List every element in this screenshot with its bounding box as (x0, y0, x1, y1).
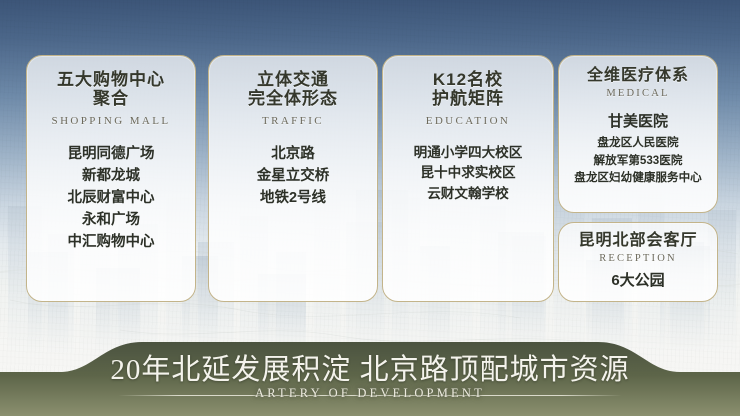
card-title-traffic: 立体交通 完全体形态 (209, 56, 377, 109)
card-item-list-medical: 盘龙区人民医院 解放军第533医院 盘龙区妇幼健康服务中心 (559, 134, 717, 187)
card-item-list-shopping-mall: 昆明同德广场 新都龙城 北辰财富中心 永和广场 中汇购物中心 (27, 143, 195, 253)
list-item: 明通小学四大校区 (383, 143, 553, 164)
banner-headline: 20年北延发展积淀 北京路顶配城市资源 (110, 346, 629, 388)
list-item: 北辰财富中心 (27, 187, 195, 209)
list-item: 昆十中求实校区 (383, 163, 553, 184)
list-item: 盘龙区妇幼健康服务中心 (559, 169, 717, 187)
poster-canvas: 五大购物中心 聚合 SHOPPING MALL 昆明同德广场 新都龙城 北辰财富… (0, 0, 740, 416)
card-subtitle-shopping-mall: SHOPPING MALL (27, 115, 195, 127)
card-subtitle-reception: RECEPTION (559, 253, 717, 264)
banner-subline-wrap: ARTERY OF DEVELOPMENT (0, 386, 740, 401)
list-item: 昆明同德广场 (27, 143, 195, 165)
banner-subline: ARTERY OF DEVELOPMENT (251, 386, 489, 400)
card-medical[interactable]: 全维医疗体系 MEDICAL 甘美医院 盘龙区人民医院 解放军第533医院 盘龙… (558, 55, 718, 213)
card-subtitle-traffic: TRAFFIC (209, 115, 377, 127)
list-item: 永和广场 (27, 209, 195, 231)
banner-text-block: 20年北延发展积淀 北京路顶配城市资源 (0, 336, 740, 416)
list-item: 金星立交桥 (209, 165, 377, 187)
card-traffic[interactable]: 立体交通 完全体形态 TRAFFIC 北京路 金星立交桥 地铁2号线 (208, 55, 378, 302)
card-title-line1: 立体交通 (209, 70, 377, 89)
card-subtitle-medical: MEDICAL (559, 88, 717, 99)
list-item: 中汇购物中心 (27, 231, 195, 253)
card-title-line2: 聚合 (27, 89, 195, 108)
card-title-line1: K12名校 (383, 70, 553, 89)
list-item: 地铁2号线 (209, 187, 377, 209)
card-title-medical: 全维医疗体系 (559, 56, 717, 85)
card-subtitle-education: EDUCATION (383, 115, 553, 127)
card-reception[interactable]: 昆明北部会客厅 RECEPTION 6大公园 (558, 222, 718, 302)
bottom-banner: 20年北延发展积淀 北京路顶配城市资源 ARTERY OF DEVELOPMEN… (0, 336, 740, 416)
card-title-shopping-mall: 五大购物中心 聚合 (27, 56, 195, 109)
card-lead-reception: 6大公园 (559, 269, 717, 290)
card-title-education: K12名校 护航矩阵 (383, 56, 553, 109)
list-item: 盘龙区人民医院 (559, 134, 717, 152)
card-title-line1: 昆明北部会客厅 (559, 232, 717, 250)
list-item: 新都龙城 (27, 165, 195, 187)
card-title-line2: 完全体形态 (209, 89, 377, 108)
card-title-reception: 昆明北部会客厅 (559, 223, 717, 250)
card-education[interactable]: K12名校 护航矩阵 EDUCATION 明通小学四大校区 昆十中求实校区 云财… (382, 55, 554, 302)
card-item-list-education: 明通小学四大校区 昆十中求实校区 云财文翰学校 (383, 143, 553, 205)
list-item: 北京路 (209, 143, 377, 165)
card-title-line1: 全维医疗体系 (559, 67, 717, 85)
card-shopping-mall[interactable]: 五大购物中心 聚合 SHOPPING MALL 昆明同德广场 新都龙城 北辰财富… (26, 55, 196, 302)
card-lead-medical: 甘美医院 (559, 110, 717, 131)
list-item: 云财文翰学校 (383, 184, 553, 205)
list-item: 解放军第533医院 (559, 152, 717, 170)
card-item-list-traffic: 北京路 金星立交桥 地铁2号线 (209, 143, 377, 209)
card-title-line2: 护航矩阵 (383, 89, 553, 108)
card-title-line1: 五大购物中心 (27, 70, 195, 89)
